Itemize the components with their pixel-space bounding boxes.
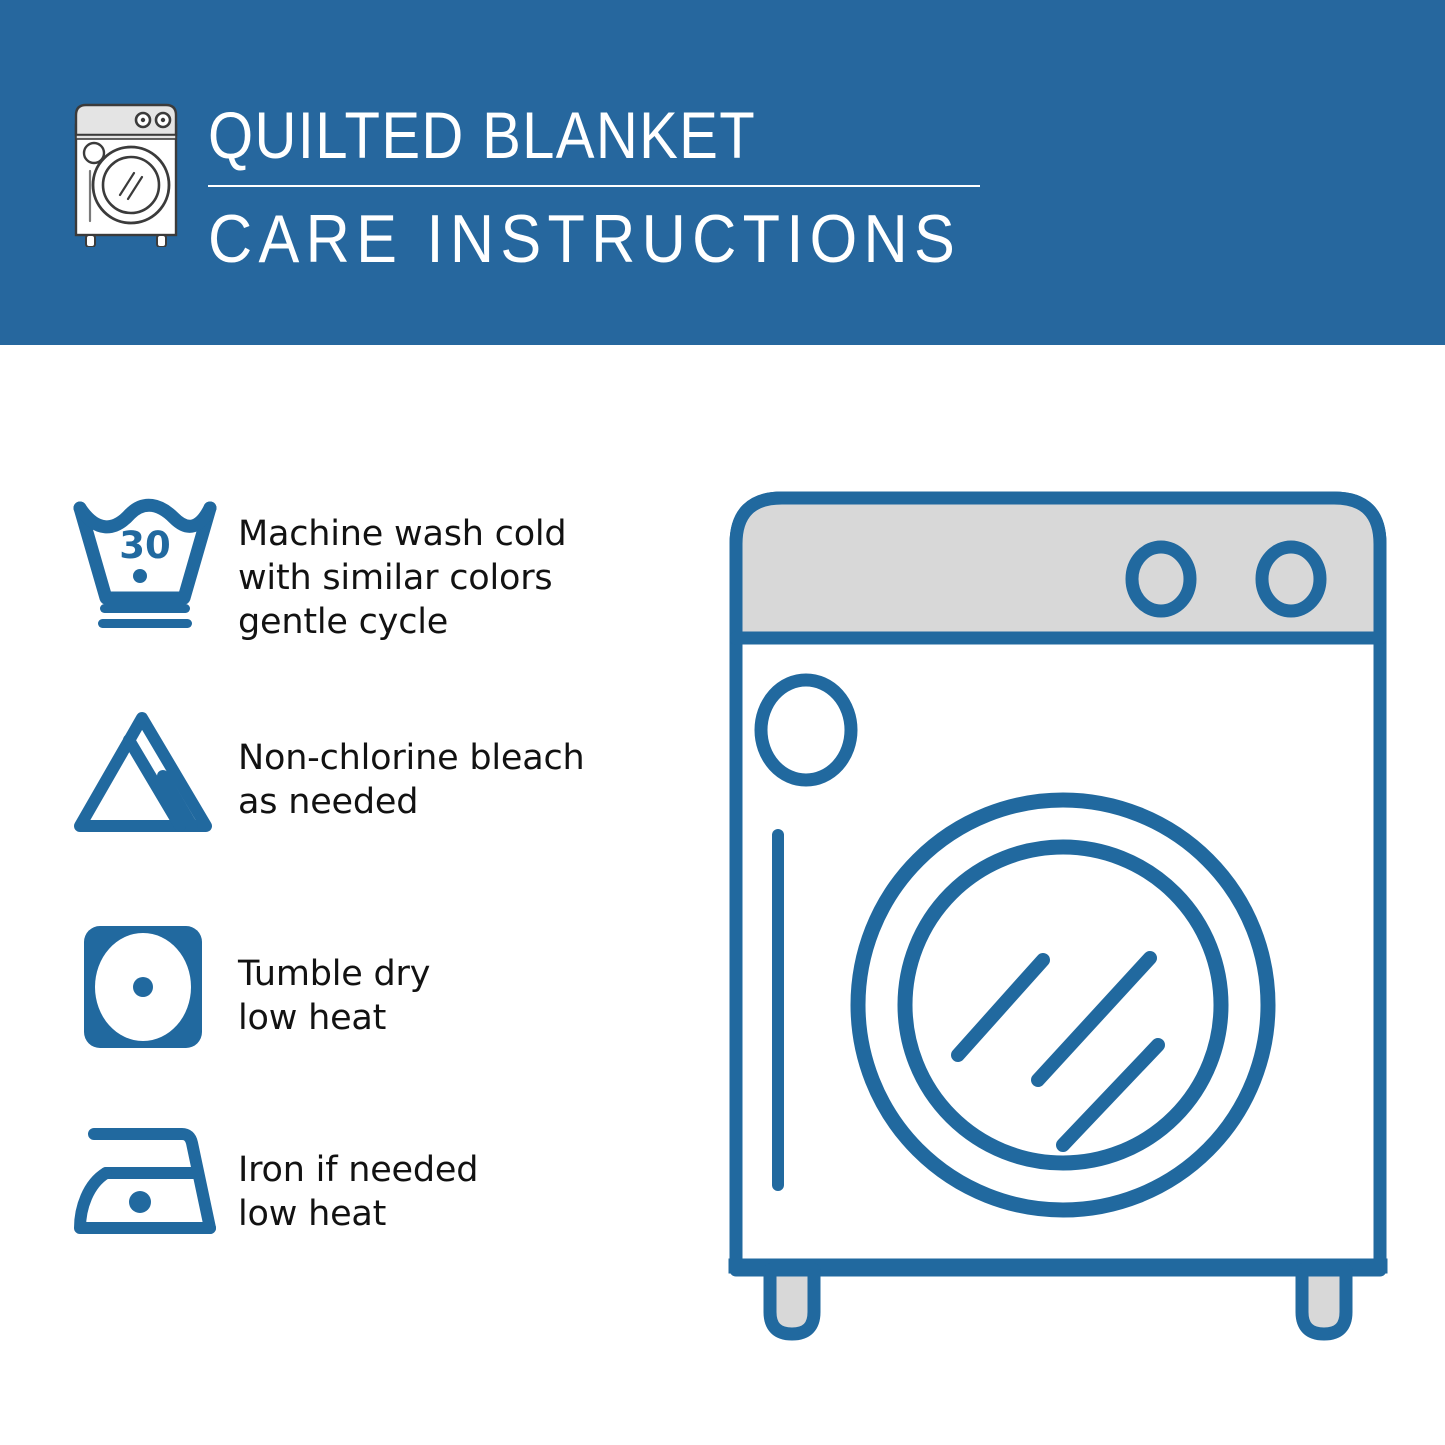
title-divider [208,185,980,187]
list-item: Iron if needed low heat [70,1116,690,1256]
list-item-label: Machine wash cold with similar colors ge… [238,492,690,644]
header-content: QUILTED BLANKET CARE INSTRUCTIONS [68,95,1045,277]
tumble-dry-low-icon [70,916,238,1056]
wash-temperature-value: 30 [119,524,171,567]
list-item-label: Tumble dry low heat [238,916,690,1040]
page-subtitle: CARE INSTRUCTIONS [208,201,961,277]
instruction-list: 30 Machine wash cold with similar colors… [70,492,690,1256]
list-item-label: Iron if needed low heat [238,1116,690,1236]
care-instructions-page: QUILTED BLANKET CARE INSTRUCTIONS 30 [0,0,1445,1445]
washing-machine-illustration [718,480,1398,1360]
list-item: Tumble dry low heat [70,916,690,1056]
washing-machine-logo-icon [68,95,186,247]
iron-low-heat-icon [70,1116,238,1246]
header-title-group: QUILTED BLANKET CARE INSTRUCTIONS [208,95,1045,277]
list-item-label: Non-chlorine bleach as needed [238,706,690,824]
non-chlorine-bleach-triangle-icon [70,706,238,836]
list-item: 30 Machine wash cold with similar colors… [70,492,690,644]
machine-wash-30-icon: 30 [70,492,238,632]
page-title: QUILTED BLANKET [208,99,944,171]
list-item: Non-chlorine bleach as needed [70,706,690,846]
header-band: QUILTED BLANKET CARE INSTRUCTIONS [0,0,1445,345]
